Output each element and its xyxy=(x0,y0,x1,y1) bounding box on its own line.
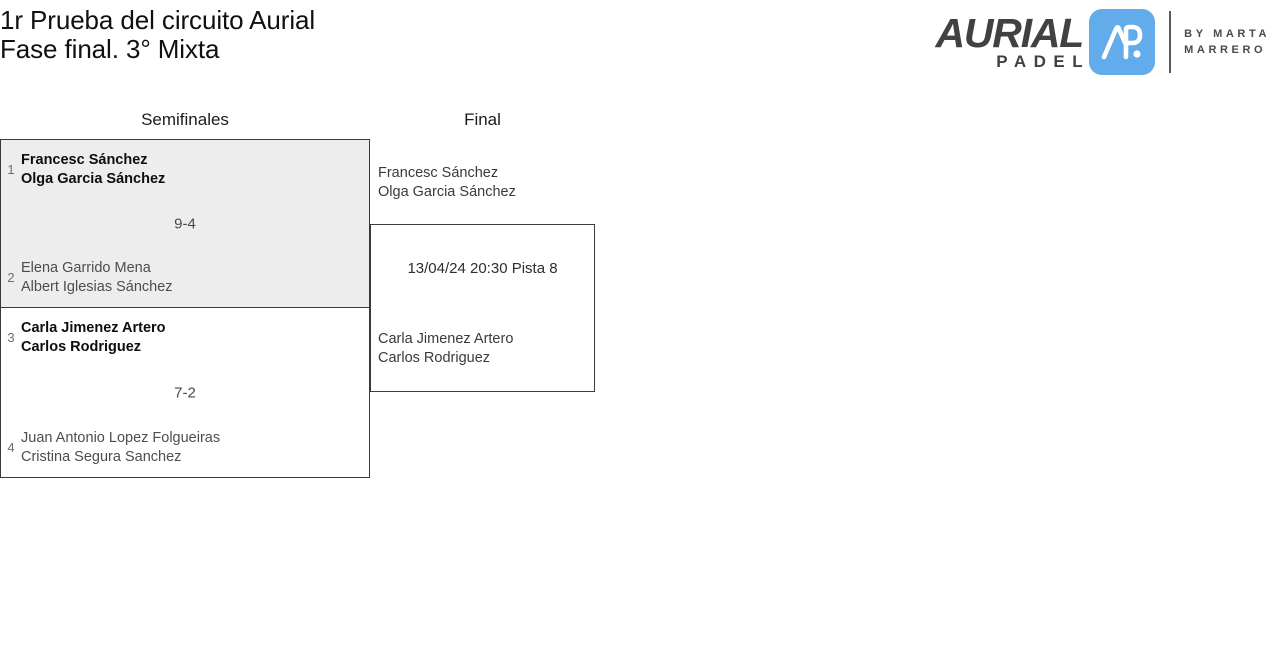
match-final[interactable]: Francesc Sánchez Olga Garcia Sánchez 13/… xyxy=(370,224,595,392)
seed-number: 4 xyxy=(1,440,21,455)
logo-subbrand-text: PADEL xyxy=(996,52,1090,71)
seed-number: 1 xyxy=(1,162,21,177)
team-players: Elena Garrido Mena Albert Iglesias Sánch… xyxy=(21,259,173,296)
player-name: Olga Garcia Sánchez xyxy=(21,170,165,189)
team-players: Francesc Sánchez Olga Garcia Sánchez xyxy=(21,151,165,188)
logo-byline-line-2: MARRERO xyxy=(1184,42,1270,58)
logo-brand-text: AURIAL xyxy=(935,13,1083,53)
player-name: Olga Garcia Sánchez xyxy=(378,183,516,202)
match-semifinal-2[interactable]: 3 Carla Jimenez Artero Carlos Rodriguez … xyxy=(0,307,370,478)
match-score: 9-4 xyxy=(1,215,369,232)
player-name: Carla Jimenez Artero xyxy=(21,319,166,338)
player-name: Elena Garrido Mena xyxy=(21,259,173,278)
player-name: Francesc Sánchez xyxy=(378,164,516,183)
match-score: 7-2 xyxy=(1,384,369,401)
logo-wordmark: AURIAL PADEL xyxy=(935,13,1083,71)
seed-number: 3 xyxy=(1,330,21,345)
player-name: Carla Jimenez Artero xyxy=(378,330,513,349)
logo-divider xyxy=(1169,11,1171,73)
team-slot-seed-1[interactable]: 1 Francesc Sánchez Olga Garcia Sánchez xyxy=(1,151,165,188)
page-title-line-2: Fase final. 3° Mixta xyxy=(0,35,315,64)
finalist-slot-bottom[interactable]: Carla Jimenez Artero Carlos Rodriguez xyxy=(378,330,513,368)
team-slot-seed-3[interactable]: 3 Carla Jimenez Artero Carlos Rodriguez xyxy=(1,319,166,356)
player-name: Carlos Rodriguez xyxy=(21,338,166,357)
page-title: 1r Prueba del circuito Aurial Fase final… xyxy=(0,6,315,64)
aurial-padel-logo: AURIAL PADEL BY MARTA MARRERO xyxy=(935,9,1270,75)
team-slot-seed-2[interactable]: 2 Elena Garrido Mena Albert Iglesias Sán… xyxy=(1,259,173,296)
final-schedule: 13/04/24 20:30 Pista 8 xyxy=(371,259,594,278)
tournament-bracket-page: 1r Prueba del circuito Aurial Fase final… xyxy=(0,0,1280,661)
logo-byline: BY MARTA MARRERO xyxy=(1184,26,1270,58)
player-name: Cristina Segura Sanchez xyxy=(21,448,220,467)
round-title-final: Final xyxy=(370,110,595,130)
page-header: 1r Prueba del circuito Aurial Fase final… xyxy=(0,0,1280,95)
page-title-line-1: 1r Prueba del circuito Aurial xyxy=(0,6,315,35)
player-name: Francesc Sánchez xyxy=(21,151,165,170)
player-name: Albert Iglesias Sánchez xyxy=(21,278,173,297)
logo-byline-line-1: BY MARTA xyxy=(1184,26,1270,42)
player-name: Carlos Rodriguez xyxy=(378,349,513,368)
team-slot-seed-4[interactable]: 4 Juan Antonio Lopez Folgueiras Cristina… xyxy=(1,429,220,466)
finalist-slot-top[interactable]: Francesc Sánchez Olga Garcia Sánchez xyxy=(378,164,516,202)
round-title-semifinals: Semifinales xyxy=(0,110,370,130)
team-players: Carla Jimenez Artero Carlos Rodriguez xyxy=(21,319,166,356)
team-players: Juan Antonio Lopez Folgueiras Cristina S… xyxy=(21,429,220,466)
seed-number: 2 xyxy=(1,270,21,285)
player-name: Juan Antonio Lopez Folgueiras xyxy=(21,429,220,448)
aurial-monogram-icon xyxy=(1089,9,1155,75)
match-semifinal-1[interactable]: 1 Francesc Sánchez Olga Garcia Sánchez 9… xyxy=(0,139,370,308)
